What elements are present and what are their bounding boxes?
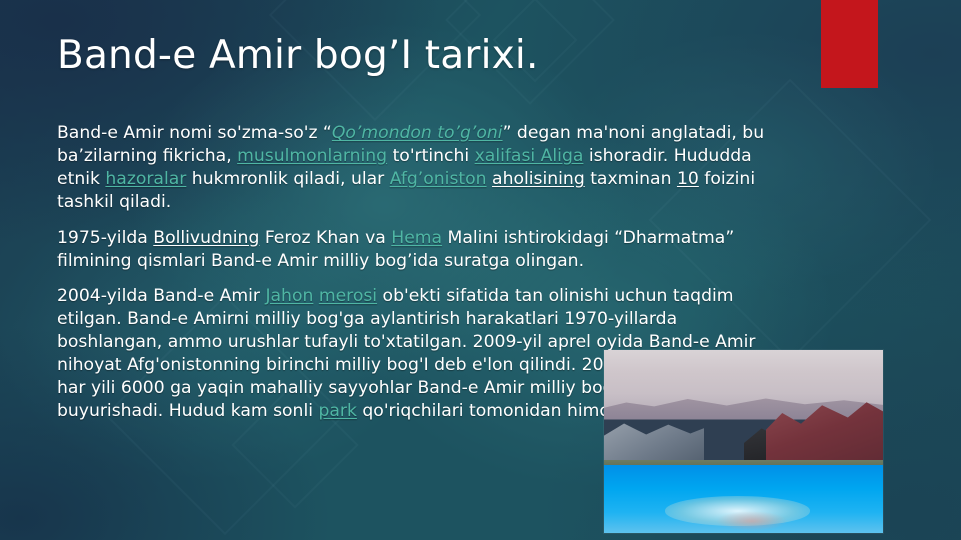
band-e-amir-photo (604, 350, 883, 533)
text-run: Band-e Amir nomi so'zma-so'z “ (57, 123, 332, 143)
hyperlink[interactable]: merosi (319, 286, 377, 306)
hyperlink[interactable]: park (318, 401, 356, 421)
hyperlink[interactable]: Qo’mondon to’g’oni (332, 123, 503, 143)
hyperlink[interactable]: xalifasi Aliga (475, 146, 584, 166)
text-run: 2004-yilda Band-e Amir (57, 286, 265, 306)
underlined-text: Bollivudning (153, 228, 259, 248)
red-accent-bar (821, 0, 878, 88)
hyperlink[interactable]: hazoralar (105, 169, 186, 189)
hyperlink[interactable]: musulmonlarning (237, 146, 387, 166)
underlined-text: aholisining (492, 169, 585, 189)
paragraph-1: Band-e Amir nomi so'zma-so'z “Qo’mondon … (57, 122, 781, 215)
slide-title: Band-e Amir bog’I tarixi. (57, 34, 817, 78)
underlined-text: 10 (677, 169, 699, 189)
text-run: to'rtinchi (387, 146, 475, 166)
hyperlink[interactable]: Jahon (265, 286, 313, 306)
slide: Band-e Amir bog’I tarixi. Band-e Amir no… (0, 0, 961, 540)
hyperlink[interactable]: Hema (391, 228, 442, 248)
text-run: taxminan (585, 169, 677, 189)
text-run: hukmronlik qiladi, ular (186, 169, 389, 189)
hyperlink[interactable]: Afg’oniston (390, 169, 487, 189)
text-run: 1975-yilda (57, 228, 153, 248)
text-run: Feroz Khan va (259, 228, 391, 248)
paragraph-2: 1975-yilda Bollivudning Feroz Khan va He… (57, 227, 781, 273)
